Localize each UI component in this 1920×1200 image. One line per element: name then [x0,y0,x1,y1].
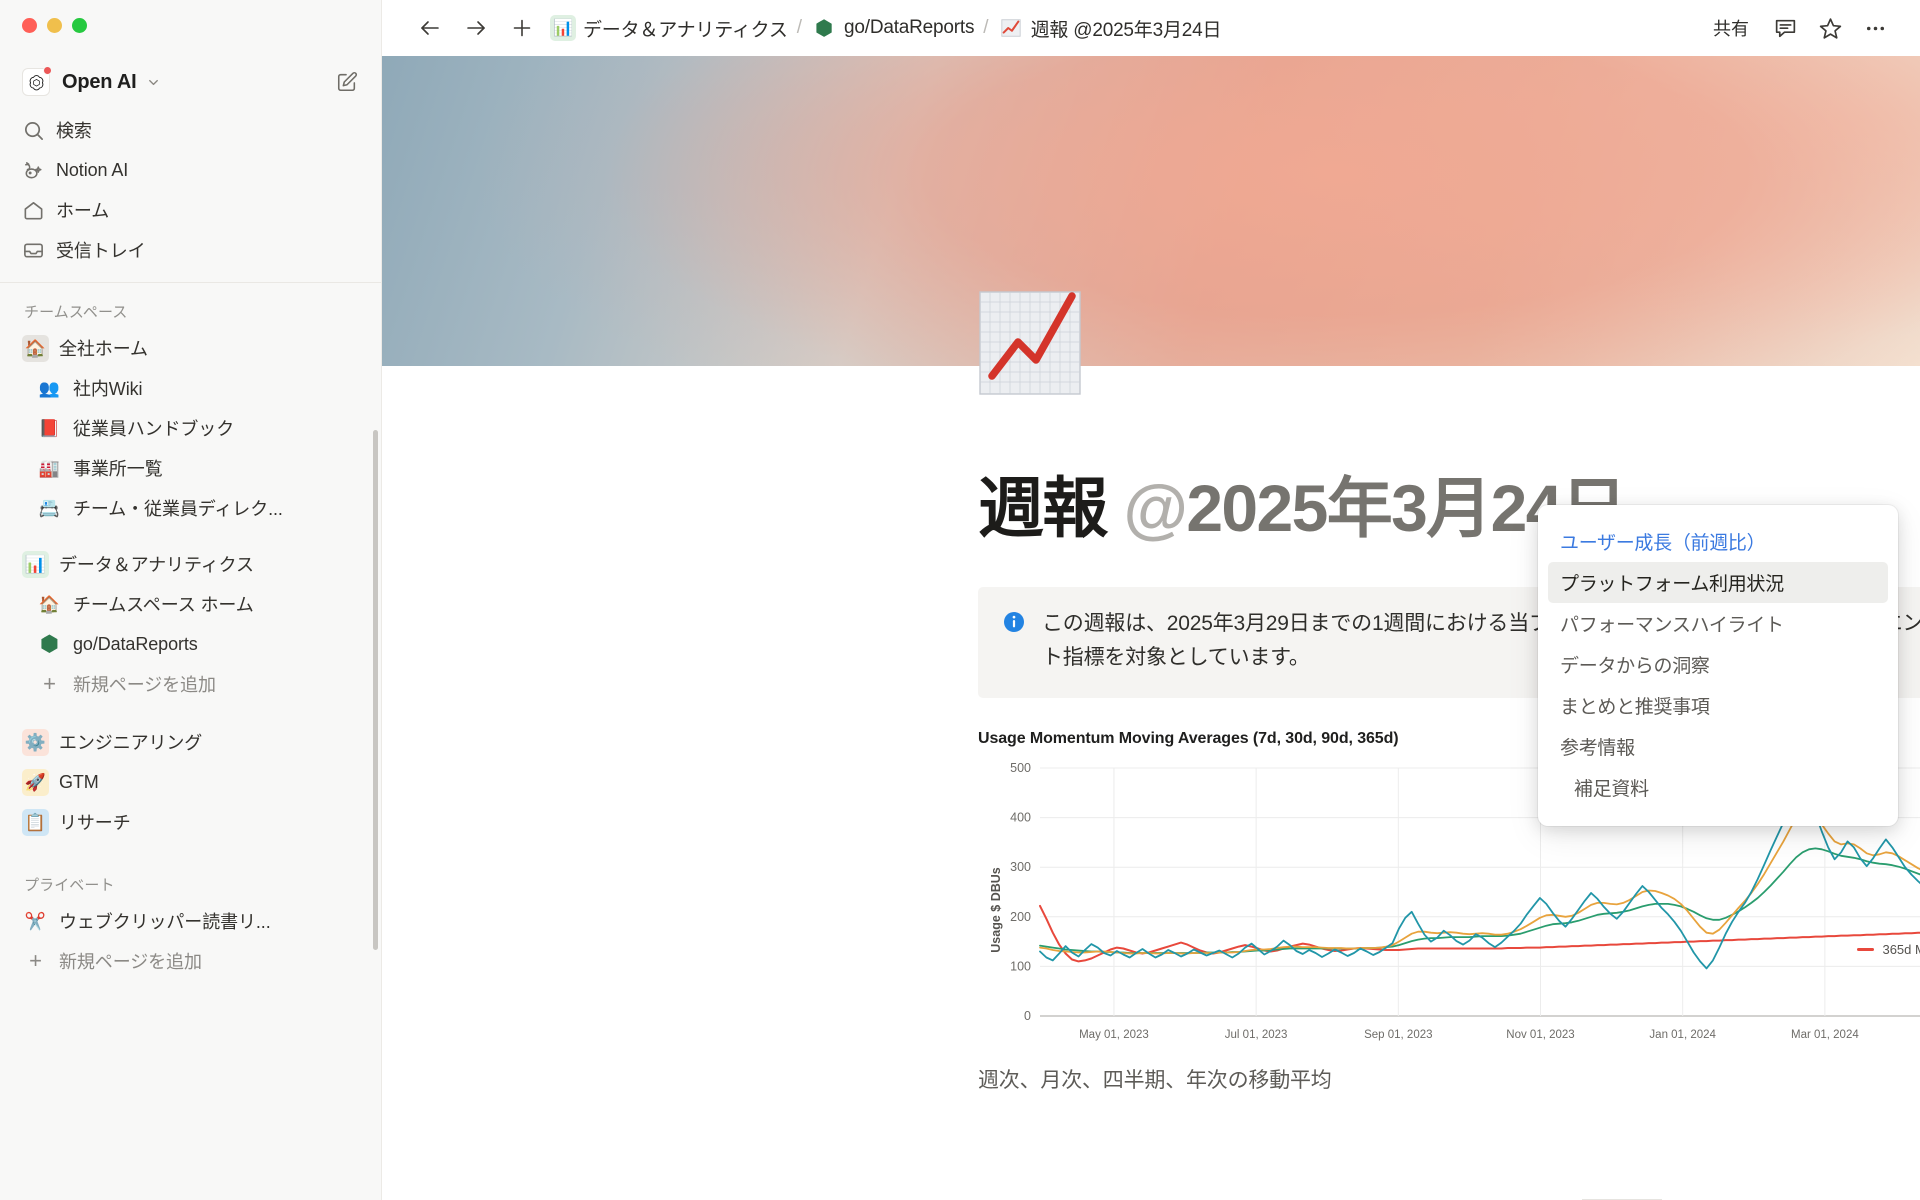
topbar: 📊 データ＆アナリティクス / ⬢ go/DataReports / 週報 @2… [382,0,1920,56]
sidebar-item-label: Notion AI [56,160,128,181]
breadcrumb-label: 週報 @2025年3月24日 [1031,15,1222,42]
breadcrumb-item-go-datareports[interactable]: ⬢ go/DataReports [811,15,974,41]
sidebar-item-label: データ＆アナリティクス [59,551,254,577]
sidebar: Open AI 検索 [0,0,382,1200]
comment-icon[interactable] [1767,10,1804,47]
topbar-actions: 共有 [1703,9,1894,47]
svg-text:100: 100 [1010,959,1031,973]
scissors-emoji-icon: ✂️ [22,908,49,935]
svg-text:Mar 01, 2024: Mar 01, 2024 [1791,1029,1859,1041]
sidebar-item-label: 従業員ハンドブック [73,415,234,441]
app-root: Open AI 検索 [0,0,1920,1200]
house-emoji-icon: 🏠 [36,591,63,618]
sidebar-item-label: GTM [59,772,99,793]
inbox-icon [22,239,48,262]
toc-item-appendix[interactable]: 補足資料 [1548,767,1888,808]
toc-item-platform-usage[interactable]: プラットフォーム利用状況 [1548,562,1888,603]
svg-text:0: 0 [1024,1009,1031,1023]
sidebar-item-inbox[interactable]: 受信トレイ [14,230,371,270]
svg-text:200: 200 [1010,910,1031,924]
chart-increasing-emoji-icon [998,15,1024,41]
svg-text:Sep 01, 2023: Sep 01, 2023 [1364,1029,1432,1041]
sidebar-item-label: 新規ページを追加 [59,948,202,974]
notification-badge [43,66,52,75]
home-icon [22,199,48,222]
svg-text:500: 500 [1010,761,1031,775]
sidebar-item-engineering[interactable]: ⚙️ エンジニアリング [14,722,371,762]
toc-item-user-growth[interactable]: ユーザー成長（前週比） [1548,521,1888,562]
sidebar-item-label: エンジニアリング [59,729,202,755]
sidebar-item-gtm[interactable]: 🚀 GTM [14,762,371,802]
toc-item-summary-recommendations[interactable]: まとめと推奨事項 [1548,685,1888,726]
page-title-at: @ [1124,471,1187,545]
star-icon[interactable] [1812,10,1849,47]
rocket-emoji-icon: 🚀 [22,769,49,796]
id-card-emoji-icon: 📇 [36,495,63,522]
svg-text:Jul 01, 2023: Jul 01, 2023 [1225,1029,1288,1041]
book-emoji-icon: 📕 [36,415,63,442]
sidebar-item-web-clipper[interactable]: ✂️ ウェブクリッパー読書リ... [14,901,371,941]
openai-logo-icon [22,68,50,96]
sidebar-item-label: go/DataReports [73,634,198,655]
chart-y-tick-labels: 0100200300400500 [1010,761,1031,1023]
breadcrumb-label: データ＆アナリティクス [583,15,788,42]
sidebar-add-page-data[interactable]: + 新規ページを追加 [14,664,371,704]
plus-icon[interactable] [504,10,540,46]
sidebar-item-label: チーム・従業員ディレク... [73,495,283,521]
workspace-switcher[interactable]: Open AI [14,60,371,104]
chevron-down-icon[interactable] [146,75,161,90]
people-emoji-icon: 👥 [36,375,63,402]
info-icon [1002,610,1026,676]
minimize-icon[interactable] [47,18,62,33]
svg-text:300: 300 [1010,860,1031,874]
house-emoji-icon: 🏠 [22,335,49,362]
sidebar-item-label: 事業所一覧 [73,455,163,481]
sidebar-item-label: 検索 [56,117,92,143]
chart-legend: 365d Moving Average [1857,942,1920,957]
sidebar-item-label: 全社ホーム [59,335,148,361]
bar-chart-emoji-icon: 📊 [22,551,49,578]
svg-text:400: 400 [1010,810,1031,824]
sidebar-item-research[interactable]: 📋 リサーチ [14,802,371,842]
clipboard-emoji-icon: 📋 [22,809,49,836]
sidebar-item-notion-ai[interactable]: Notion AI [14,150,371,190]
close-icon[interactable] [22,18,37,33]
svg-text:Jan 01, 2024: Jan 01, 2024 [1649,1029,1716,1041]
green-hexagon-emoji-icon: ⬢ [811,15,837,41]
sidebar-divider [0,282,381,283]
svg-text:Nov 01, 2023: Nov 01, 2023 [1506,1029,1574,1041]
sidebar-item-label: チームスペース ホーム [73,591,254,617]
window-traffic-lights [0,0,381,46]
chart-caption: 週次、月次、四半期、年次の移動平均 [978,1064,1920,1094]
private-section-label: プライベート [0,862,381,901]
bar-chart-emoji-icon: 📊 [550,15,576,41]
breadcrumb-item-current-page[interactable]: 週報 @2025年3月24日 [998,15,1222,42]
sidebar-item-go-datareports[interactable]: ⬢ go/DataReports [14,624,371,664]
search-icon [22,119,48,142]
table-of-contents-panel: ユーザー成長（前週比） プラットフォーム利用状況 パフォーマンスハイライト デー… [1538,505,1898,826]
compose-icon[interactable] [331,66,363,98]
page-title-main: 週報 [978,471,1124,545]
factory-emoji-icon: 🏭 [36,455,63,482]
sidebar-item-label: ホーム [56,197,109,223]
chart-y-axis-title: Usage $ DBUs [989,867,1003,952]
ellipsis-icon[interactable] [1857,10,1894,47]
workspace-name: Open AI [62,71,137,94]
chart-x-tick-labels: May 01, 2023Jul 01, 2023Sep 01, 2023Nov … [1079,1029,1859,1041]
sidebar-item-company-home[interactable]: 🏠 全社ホーム [14,328,371,368]
sidebar-item-search[interactable]: 検索 [14,110,371,150]
sidebar-item-label: 社内Wiki [73,375,142,401]
plus-icon: + [36,671,63,697]
toc-item-performance-highlights[interactable]: パフォーマンスハイライト [1548,603,1888,644]
breadcrumb-separator: / [797,17,802,39]
sidebar-item-label: リサーチ [59,809,131,835]
sidebar-item-label: 受信トレイ [56,237,146,263]
plus-icon: + [22,948,49,974]
sidebar-item-label: ウェブクリッパー読書リ... [59,908,271,934]
sidebar-item-employee-handbook[interactable]: 📕 従業員ハンドブック [14,408,371,448]
page-icon[interactable] [978,284,1082,402]
teamspace-section-label: チームスペース [0,289,381,328]
sidebar-item-teamspace-home[interactable]: 🏠 チームスペース ホーム [14,584,371,624]
share-button[interactable]: 共有 [1703,9,1759,47]
sidebar-item-internal-wiki[interactable]: 👥 社内Wiki [14,368,371,408]
sidebar-item-home[interactable]: ホーム [14,190,371,230]
sidebar-scrollbar[interactable] [373,430,378,950]
toc-item-references[interactable]: 参考情報 [1548,726,1888,767]
breadcrumb-separator: / [983,17,988,39]
sidebar-add-page-private[interactable]: + 新規ページを追加 [14,941,371,981]
arrow-right-icon[interactable] [458,10,494,46]
notion-ai-icon [22,159,48,182]
arrow-left-icon[interactable] [412,10,448,46]
maximize-icon[interactable] [72,18,87,33]
sidebar-item-label: 新規ページを追加 [73,671,216,697]
sidebar-item-offices[interactable]: 🏭 事業所一覧 [14,448,371,488]
legend-swatch-365d [1857,948,1874,951]
legend-label-365d: 365d Moving Average [1882,942,1920,957]
green-hexagon-emoji-icon: ⬢ [36,631,63,658]
svg-text:May 01, 2023: May 01, 2023 [1079,1029,1149,1041]
gears-emoji-icon: ⚙️ [22,729,49,756]
chart-line-30d [1040,810,1920,953]
sidebar-item-data-analytics[interactable]: 📊 データ＆アナリティクス [14,544,371,584]
sidebar-item-team-directory[interactable]: 📇 チーム・従業員ディレク... [14,488,371,528]
breadcrumb-label: go/DataReports [844,17,974,39]
main-content: 📊 データ＆アナリティクス / ⬢ go/DataReports / 週報 @2… [382,0,1920,1200]
breadcrumb-item-data-analytics[interactable]: 📊 データ＆アナリティクス [550,15,788,42]
toc-item-data-insights[interactable]: データからの洞察 [1548,644,1888,685]
